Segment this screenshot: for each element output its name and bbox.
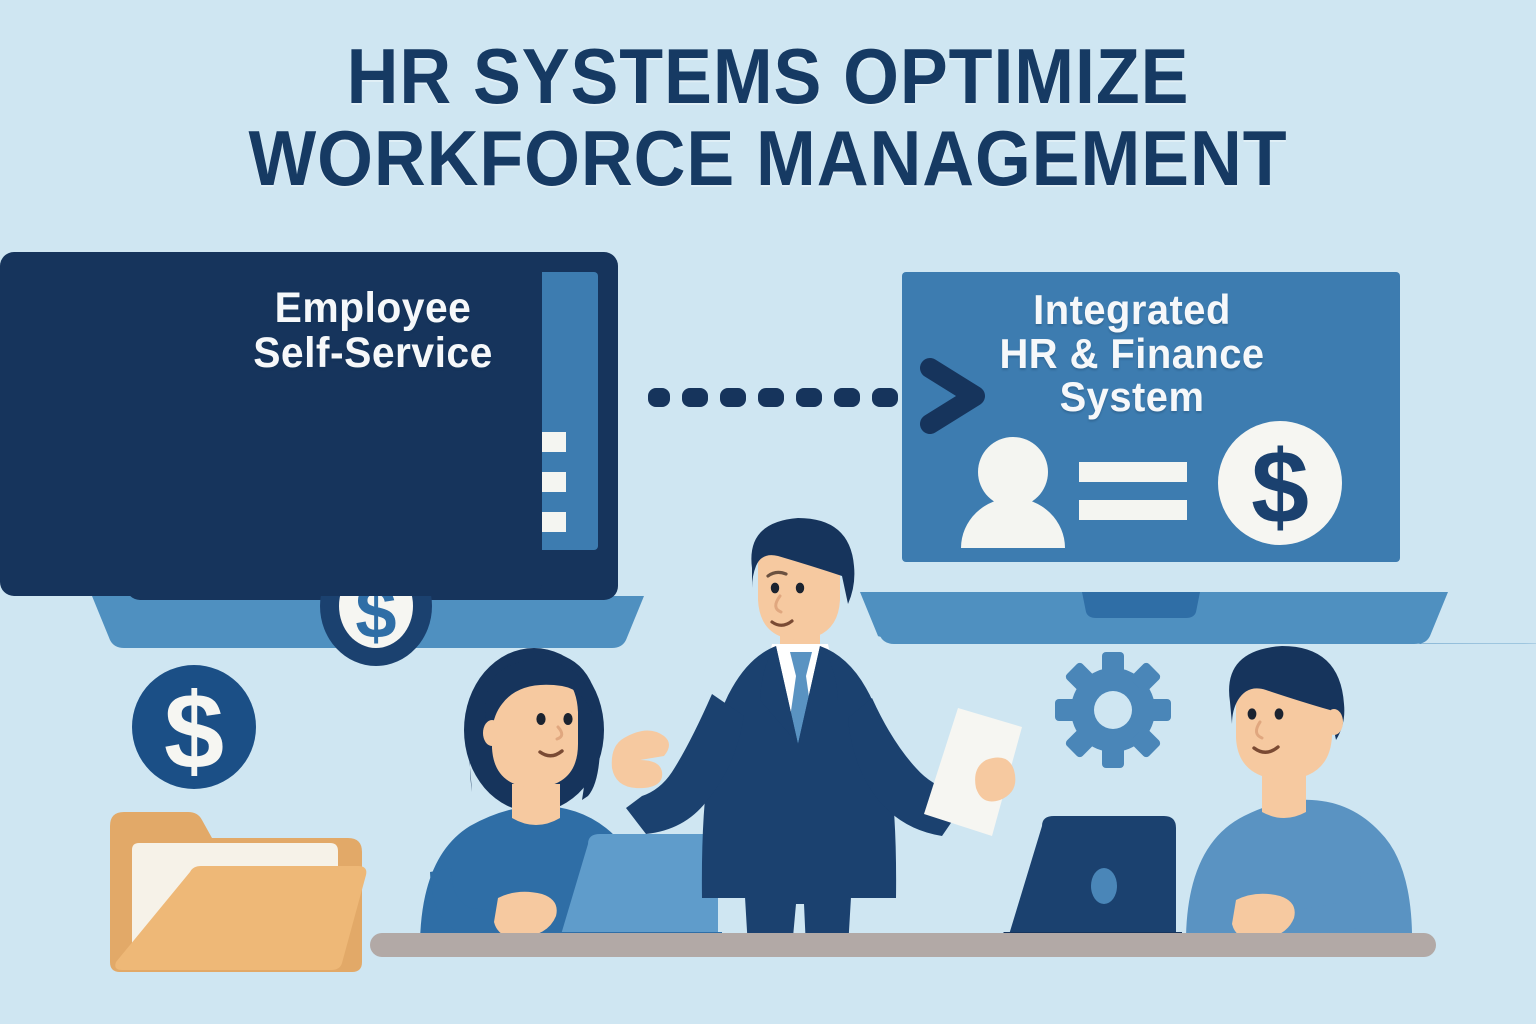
woman-eye-right bbox=[563, 713, 572, 725]
svg-text:$: $ bbox=[164, 670, 224, 791]
right-screen-label: Integrated HR & Finance System bbox=[923, 288, 1341, 419]
man2-eye-right bbox=[1275, 708, 1284, 719]
man2-eye-left bbox=[1248, 708, 1257, 719]
gear-icon bbox=[1055, 652, 1171, 768]
right-screen-label-line-1: Integrated bbox=[923, 288, 1341, 332]
right-screen-label-line-2: HR & Finance bbox=[923, 332, 1341, 376]
desk-surface bbox=[370, 933, 1436, 957]
man2-laptop-logo bbox=[1091, 868, 1117, 904]
text-line-2-right bbox=[1079, 500, 1187, 520]
text-line-1-right bbox=[1079, 462, 1187, 482]
dollar-circle-icon: $ bbox=[1218, 421, 1342, 546]
user-avatar-icon-right bbox=[978, 437, 1048, 507]
woman-ear bbox=[483, 720, 501, 746]
woman-eye-left bbox=[536, 713, 545, 725]
laptop-trackpad-right bbox=[1082, 592, 1200, 618]
illustration-canvas: $ $ bbox=[0, 0, 1536, 1024]
svg-text:$: $ bbox=[1251, 430, 1309, 546]
man2-ear bbox=[1325, 709, 1343, 735]
left-screen-label: Employee Self-Service bbox=[169, 286, 578, 375]
man1-eye-right bbox=[796, 583, 804, 594]
artwork-layer: $ $ bbox=[0, 0, 1536, 1024]
woman-neck bbox=[512, 784, 560, 825]
left-screen-label-line-1: Employee bbox=[169, 286, 578, 331]
man1-eye-left bbox=[771, 583, 779, 594]
right-screen-label-line-3: System bbox=[923, 375, 1341, 419]
gear-center-hole bbox=[1094, 691, 1132, 729]
left-screen-label-line-2: Self-Service bbox=[169, 331, 578, 376]
